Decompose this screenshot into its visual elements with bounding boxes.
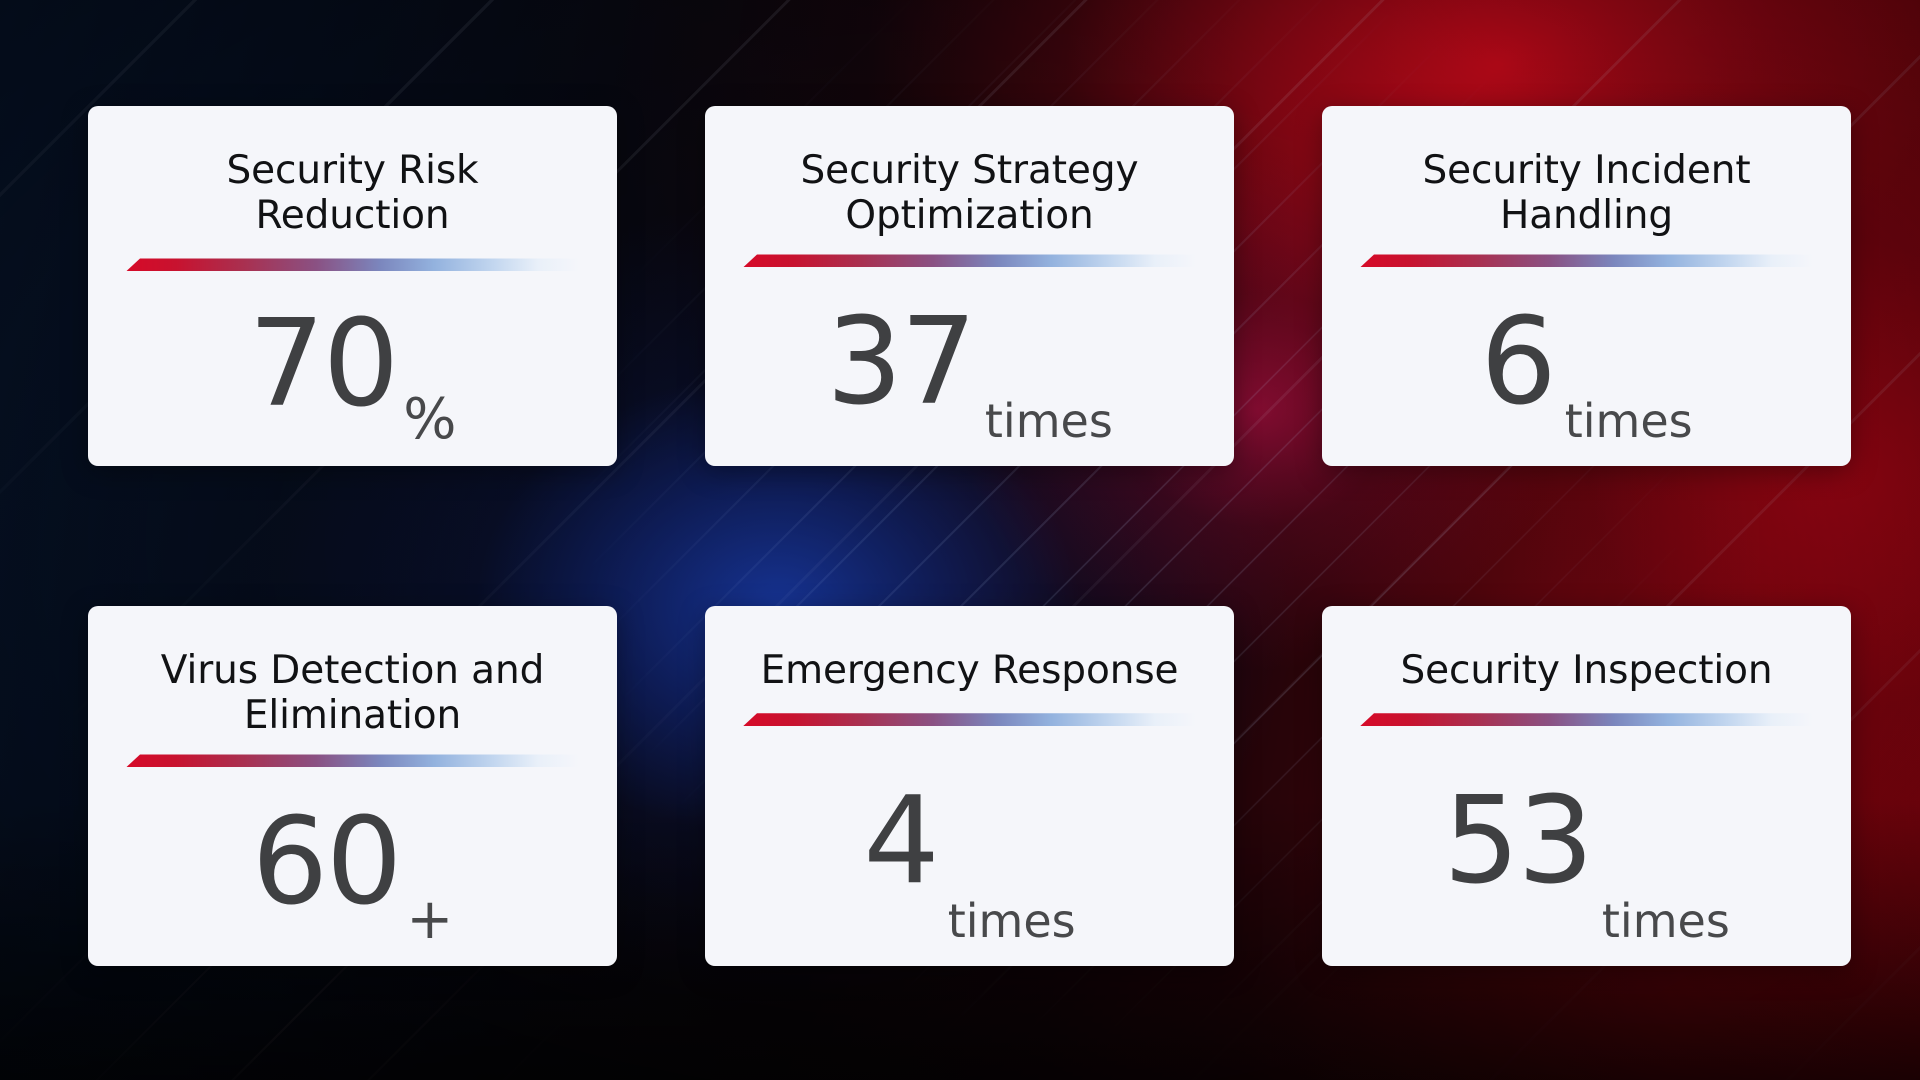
metric-unit: times <box>1602 898 1730 958</box>
gradient-rule <box>126 754 579 767</box>
metric-card-emergency-response[interactable]: Emergency Response 4 times <box>705 606 1234 966</box>
metric-card-value-row: 6 times <box>1360 267 1813 466</box>
metric-card-value-row: 37 times <box>743 267 1196 466</box>
metric-value: 70 <box>249 305 398 425</box>
gradient-rule <box>1360 713 1813 726</box>
metric-card-title: Security Strategy Optimization <box>743 148 1196 238</box>
metric-value: 4 <box>863 782 937 902</box>
metric-card-security-strategy-optimization[interactable]: Security Strategy Optimization 37 times <box>705 106 1234 466</box>
gradient-rule <box>126 258 579 271</box>
metric-card-value-row: 70 % <box>126 271 579 466</box>
metric-card-rule-wrap <box>126 754 579 767</box>
gradient-rule <box>1360 254 1813 267</box>
metric-value: 53 <box>1443 782 1592 902</box>
metric-card-title: Emergency Response <box>743 648 1196 693</box>
metric-unit: times <box>1565 398 1693 458</box>
metric-card-title: Security Risk Reduction <box>126 148 579 238</box>
metric-card-title: Security Inspection <box>1360 648 1813 693</box>
gradient-rule <box>743 254 1196 267</box>
metric-card-rule-wrap <box>743 713 1196 726</box>
metric-card-rule-wrap <box>1360 713 1813 726</box>
metric-card-security-risk-reduction[interactable]: Security Risk Reduction 70 % <box>88 106 617 466</box>
metric-value: 37 <box>826 303 975 423</box>
metric-card-virus-detection-and-elimination[interactable]: Virus Detection and Elimination 60 + <box>88 606 617 966</box>
metric-card-rule-wrap <box>743 254 1196 267</box>
gradient-rule <box>743 713 1196 726</box>
metric-card-grid: Security Risk Reduction 70 % Security St… <box>88 106 1833 974</box>
metric-card-rule-wrap <box>126 258 579 271</box>
metric-unit: times <box>985 398 1113 458</box>
metric-card-rule-wrap <box>1360 254 1813 267</box>
metric-card-security-incident-handling[interactable]: Security Incident Handling 6 times <box>1322 106 1851 466</box>
metric-unit: times <box>948 898 1076 958</box>
metric-unit: % <box>403 392 456 458</box>
metric-card-value-row: 4 times <box>743 726 1196 966</box>
metric-card-title: Security Incident Handling <box>1360 148 1813 238</box>
metric-value: 60 <box>252 803 401 923</box>
metric-card-title: Virus Detection and Elimination <box>126 648 579 738</box>
dashboard-stage: Security Risk Reduction 70 % Security St… <box>0 0 1920 1080</box>
metric-card-value-row: 53 times <box>1360 726 1813 966</box>
metric-card-value-row: 60 + <box>126 767 579 966</box>
metric-value: 6 <box>1480 303 1554 423</box>
metric-unit: + <box>406 892 453 958</box>
metric-card-security-inspection[interactable]: Security Inspection 53 times <box>1322 606 1851 966</box>
